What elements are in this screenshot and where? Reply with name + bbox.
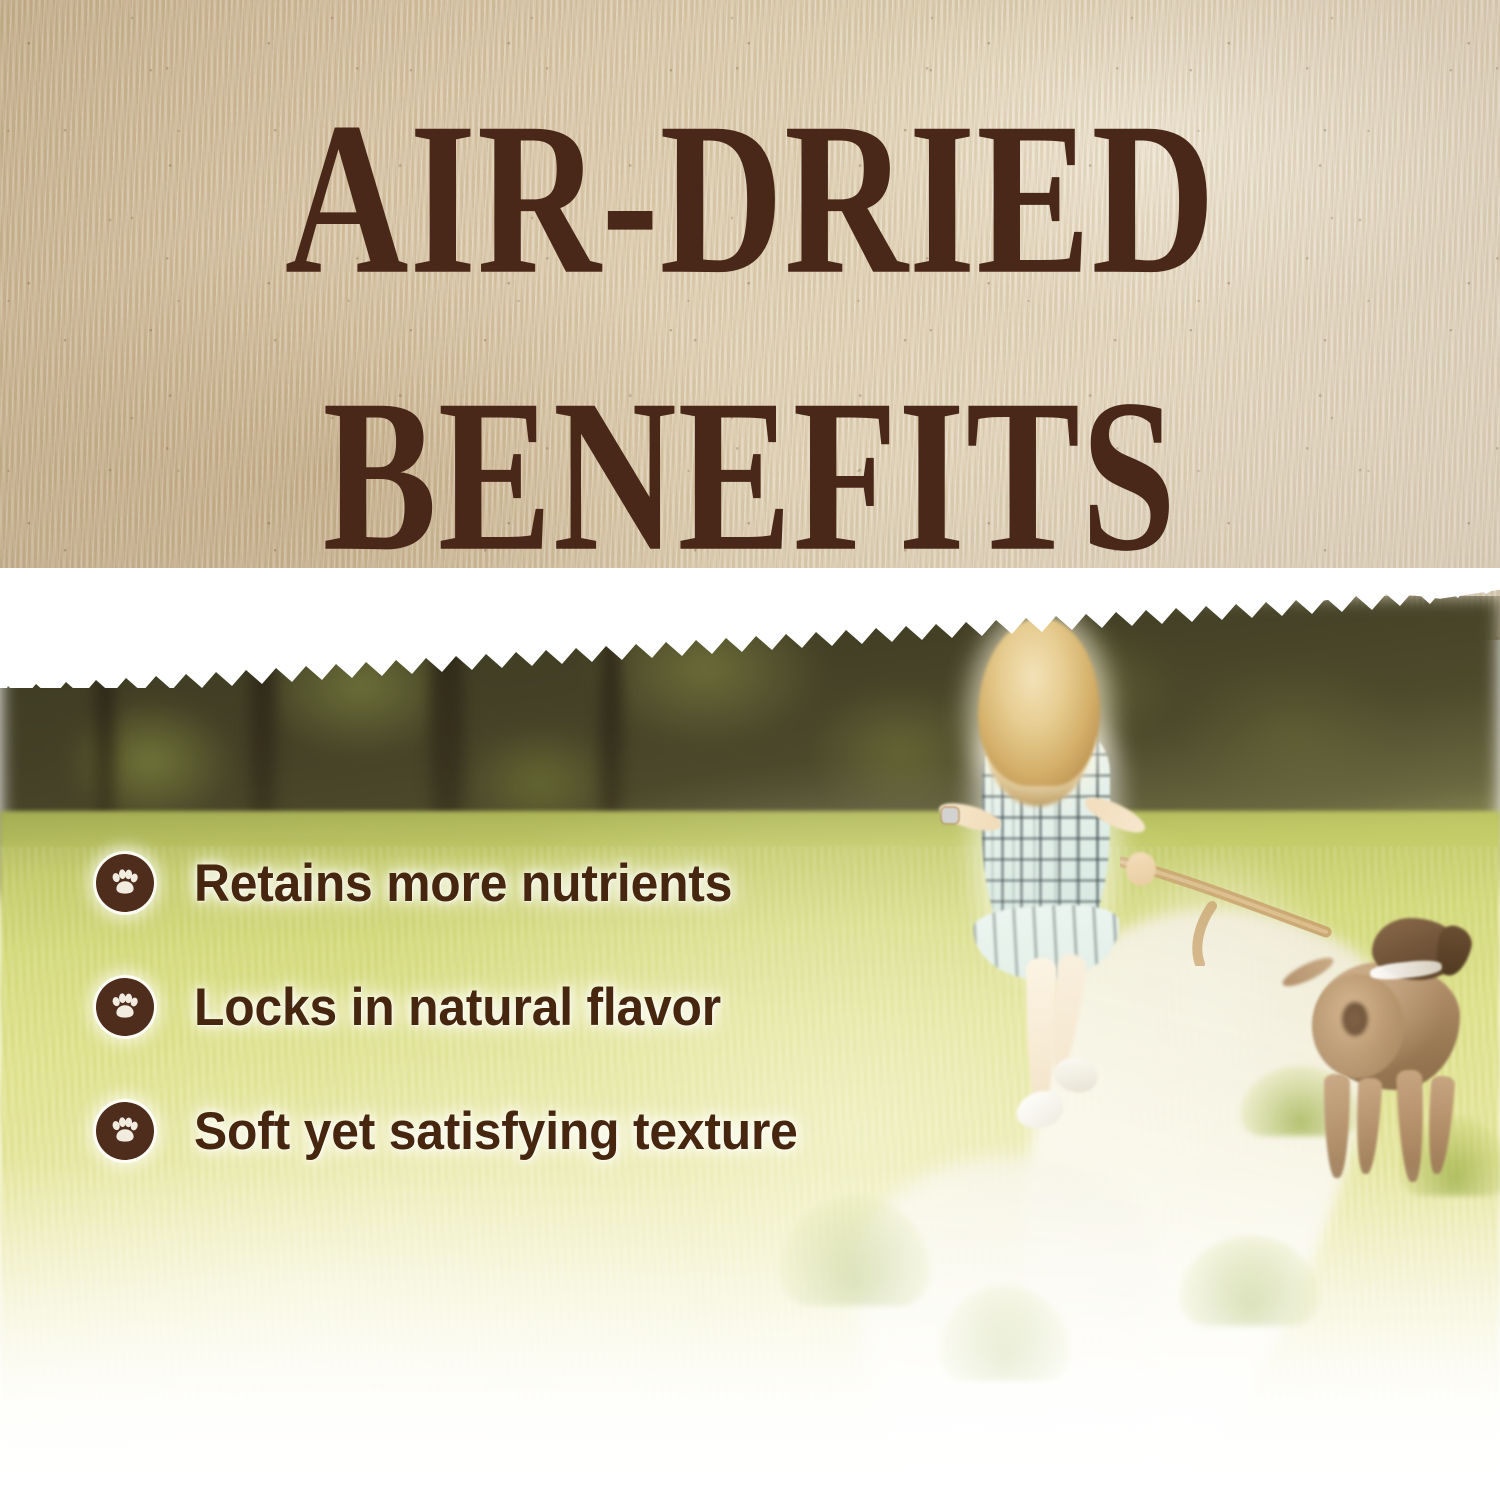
benefit-label: Soft yet satisfying texture — [194, 1105, 798, 1158]
benefit-item-2[interactable]: Locks in natural flavor — [96, 978, 755, 1036]
benefit-label: Locks in natural flavor — [194, 981, 721, 1034]
benefits-list: Retains more nutrients Locks in natural … — [0, 596, 1500, 1491]
title-line-air-dried: AIR-DRIED — [284, 99, 1215, 300]
paw-print-icon — [96, 1102, 154, 1160]
title-line-benefits: BENEFITS — [323, 375, 1177, 576]
paw-print-icon — [96, 978, 154, 1036]
benefit-label: Retains more nutrients — [194, 857, 732, 910]
paw-print-icon — [96, 854, 154, 912]
benefit-item-1[interactable]: Retains more nutrients — [96, 854, 767, 912]
air-dried-benefits-poster: AIR-DRIED BENEFITS — [0, 0, 1500, 1491]
benefit-item-3[interactable]: Soft yet satisfying texture — [96, 1102, 836, 1160]
page-title: AIR-DRIED BENEFITS — [0, 0, 1500, 600]
